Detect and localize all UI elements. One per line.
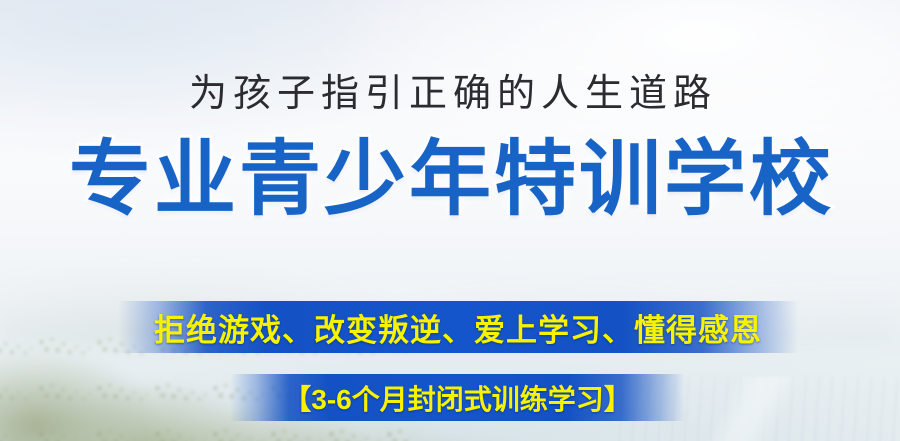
slogan-band-text: 拒绝游戏、改变叛逆、爱上学习、懂得感恩 xyxy=(154,305,762,350)
banner-content: 为孩子指引正确的人生道路 专业青少年特训学校 拒绝游戏、改变叛逆、爱上学习、懂得… xyxy=(0,0,900,441)
slogan-band: 拒绝游戏、改变叛逆、爱上学习、懂得感恩 xyxy=(118,301,798,353)
duration-band: 【3-6个月封闭式训练学习】 xyxy=(230,374,685,421)
banner-headline: 专业青少年特训学校 xyxy=(0,134,900,226)
promo-banner: 为孩子指引正确的人生道路 专业青少年特训学校 拒绝游戏、改变叛逆、爱上学习、懂得… xyxy=(0,0,900,441)
banner-tagline: 为孩子指引正确的人生道路 xyxy=(0,72,900,116)
duration-band-text: 【3-6个月封闭式训练学习】 xyxy=(283,378,631,418)
